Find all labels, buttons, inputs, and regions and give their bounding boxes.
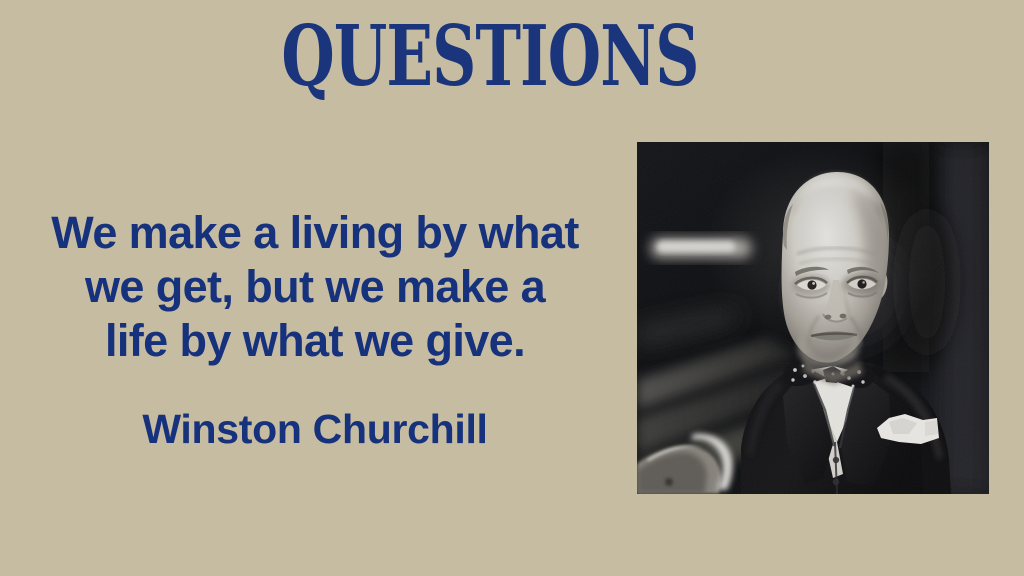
quote-line: we get, but we make a (8, 260, 622, 314)
quote-slide: QUESTIONS We make a living by what we ge… (0, 0, 1024, 576)
churchill-portrait-photo (637, 142, 989, 494)
portrait-illustration (637, 142, 989, 494)
quote-text-block: We make a living by what we get, but we … (8, 206, 622, 368)
quote-line: We make a living by what (8, 206, 622, 260)
page-title: QUESTIONS (39, 12, 941, 102)
quote-attribution: Winston Churchill (8, 404, 622, 454)
quote-line: life by what we give. (8, 314, 622, 368)
